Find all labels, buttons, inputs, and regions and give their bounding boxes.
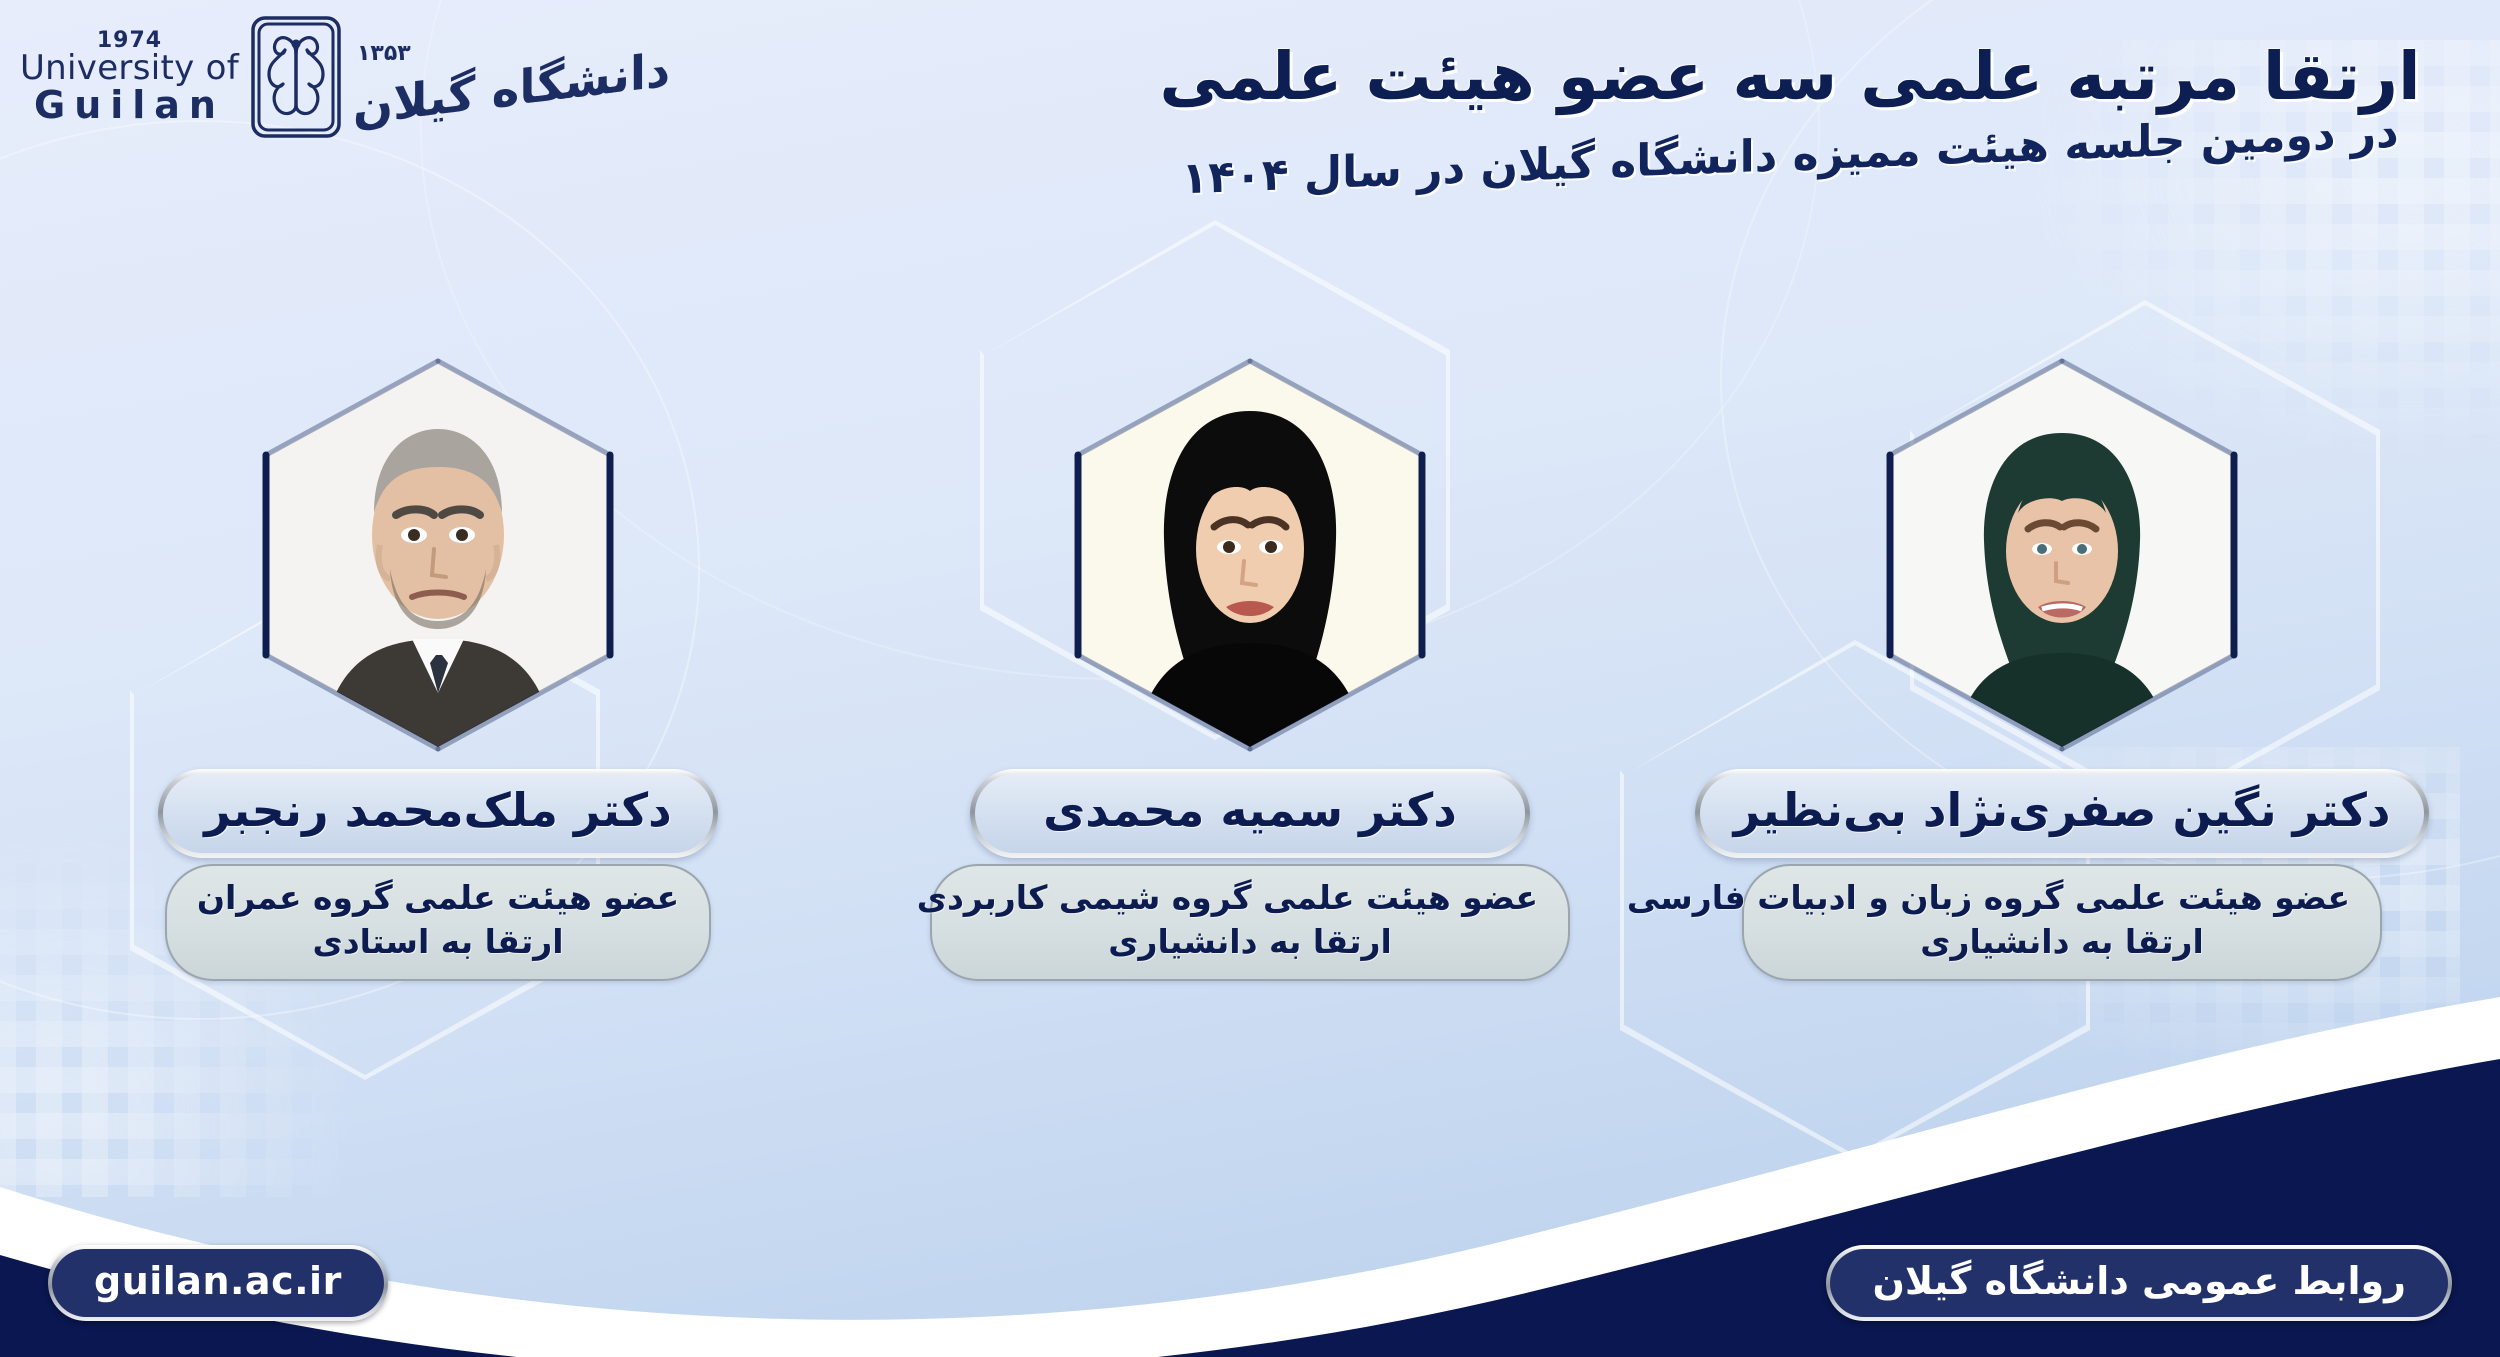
faculty-name: دکتر نگین صفری‌نژاد بی‌نظیر	[1734, 784, 2391, 837]
logo-line-guilan: Guilan	[34, 86, 225, 126]
faculty-name: دکتر ملک‌محمد رنجبر	[197, 784, 679, 837]
faculty-promotion: ارتقا به دانشیاری	[1774, 920, 2350, 965]
guilan-university-emblem-icon	[249, 14, 343, 140]
logo-persian-text: ۱۳۵۳ دانشگاه گیلان	[353, 41, 670, 113]
faculty-card: دکتر سمیه محمدی عضو هیئت علمی گروه شیمی …	[900, 355, 1600, 981]
public-relations-label: روابط عمومی دانشگاه گیلان	[1872, 1259, 2406, 1303]
faculty-name: دکتر سمیه محمدی	[1009, 784, 1491, 837]
faculty-promotion: ارتقا به استادی	[197, 920, 679, 965]
faculty-name-badge: دکتر سمیه محمدی	[970, 769, 1530, 858]
faculty-department: عضو هیئت علمی گروه عمران	[197, 876, 679, 921]
university-logo: 1974 University of Guilan ۱۳۵۳ دانشگاه گ…	[20, 14, 670, 140]
faculty-list: دکتر نگین صفری‌نژاد بی‌نظیر عضو هیئت علم…	[0, 355, 2500, 981]
faculty-name-badge: دکتر نگین صفری‌نژاد بی‌نظیر	[1695, 769, 2430, 858]
portrait-photo-1	[1886, 363, 2238, 747]
portrait-frame	[1878, 355, 2246, 755]
faculty-card: دکتر ملک‌محمد رنجبر عضو هیئت علمی گروه ع…	[88, 355, 788, 981]
header-block: ارتقا مرتبه علمی سه عضو هیئت علمی در دوم…	[1120, 36, 2460, 184]
faculty-card: دکتر نگین صفری‌نژاد بی‌نظیر عضو هیئت علم…	[1712, 355, 2412, 981]
website-url[interactable]: guilan.ac.ir	[94, 1259, 342, 1303]
portrait-photo-2	[1074, 363, 1426, 747]
logo-line-university: University of	[20, 51, 239, 87]
faculty-department: عضو هیئت علمی گروه شیمی کاربردی	[962, 876, 1538, 921]
portrait-photo-3	[262, 363, 614, 747]
portrait-frame	[1066, 355, 1434, 755]
poster-canvas: 1974 University of Guilan ۱۳۵۳ دانشگاه گ…	[0, 0, 2500, 1357]
faculty-department: عضو هیئت علمی گروه زبان و ادبیات فارسی	[1774, 876, 2350, 921]
faculty-name-badge: دکتر ملک‌محمد رنجبر	[158, 769, 718, 858]
logo-year-fa: ۱۳۵۳	[357, 41, 411, 66]
faculty-role-badge: عضو هیئت علمی گروه زبان و ادبیات فارسی ا…	[1742, 864, 2382, 981]
faculty-promotion: ارتقا به دانشیاری	[962, 920, 1538, 965]
public-relations-pill: روابط عمومی دانشگاه گیلان	[1826, 1245, 2452, 1321]
faculty-role-badge: عضو هیئت علمی گروه عمران ارتقا به استادی	[165, 864, 711, 981]
page-title: ارتقا مرتبه علمی سه عضو هیئت علمی	[1120, 36, 2460, 119]
portrait-frame	[254, 355, 622, 755]
website-link-pill[interactable]: guilan.ac.ir	[48, 1245, 388, 1321]
faculty-role-badge: عضو هیئت علمی گروه شیمی کاربردی ارتقا به…	[930, 864, 1570, 981]
logo-english-text: 1974 University of Guilan	[20, 28, 239, 127]
